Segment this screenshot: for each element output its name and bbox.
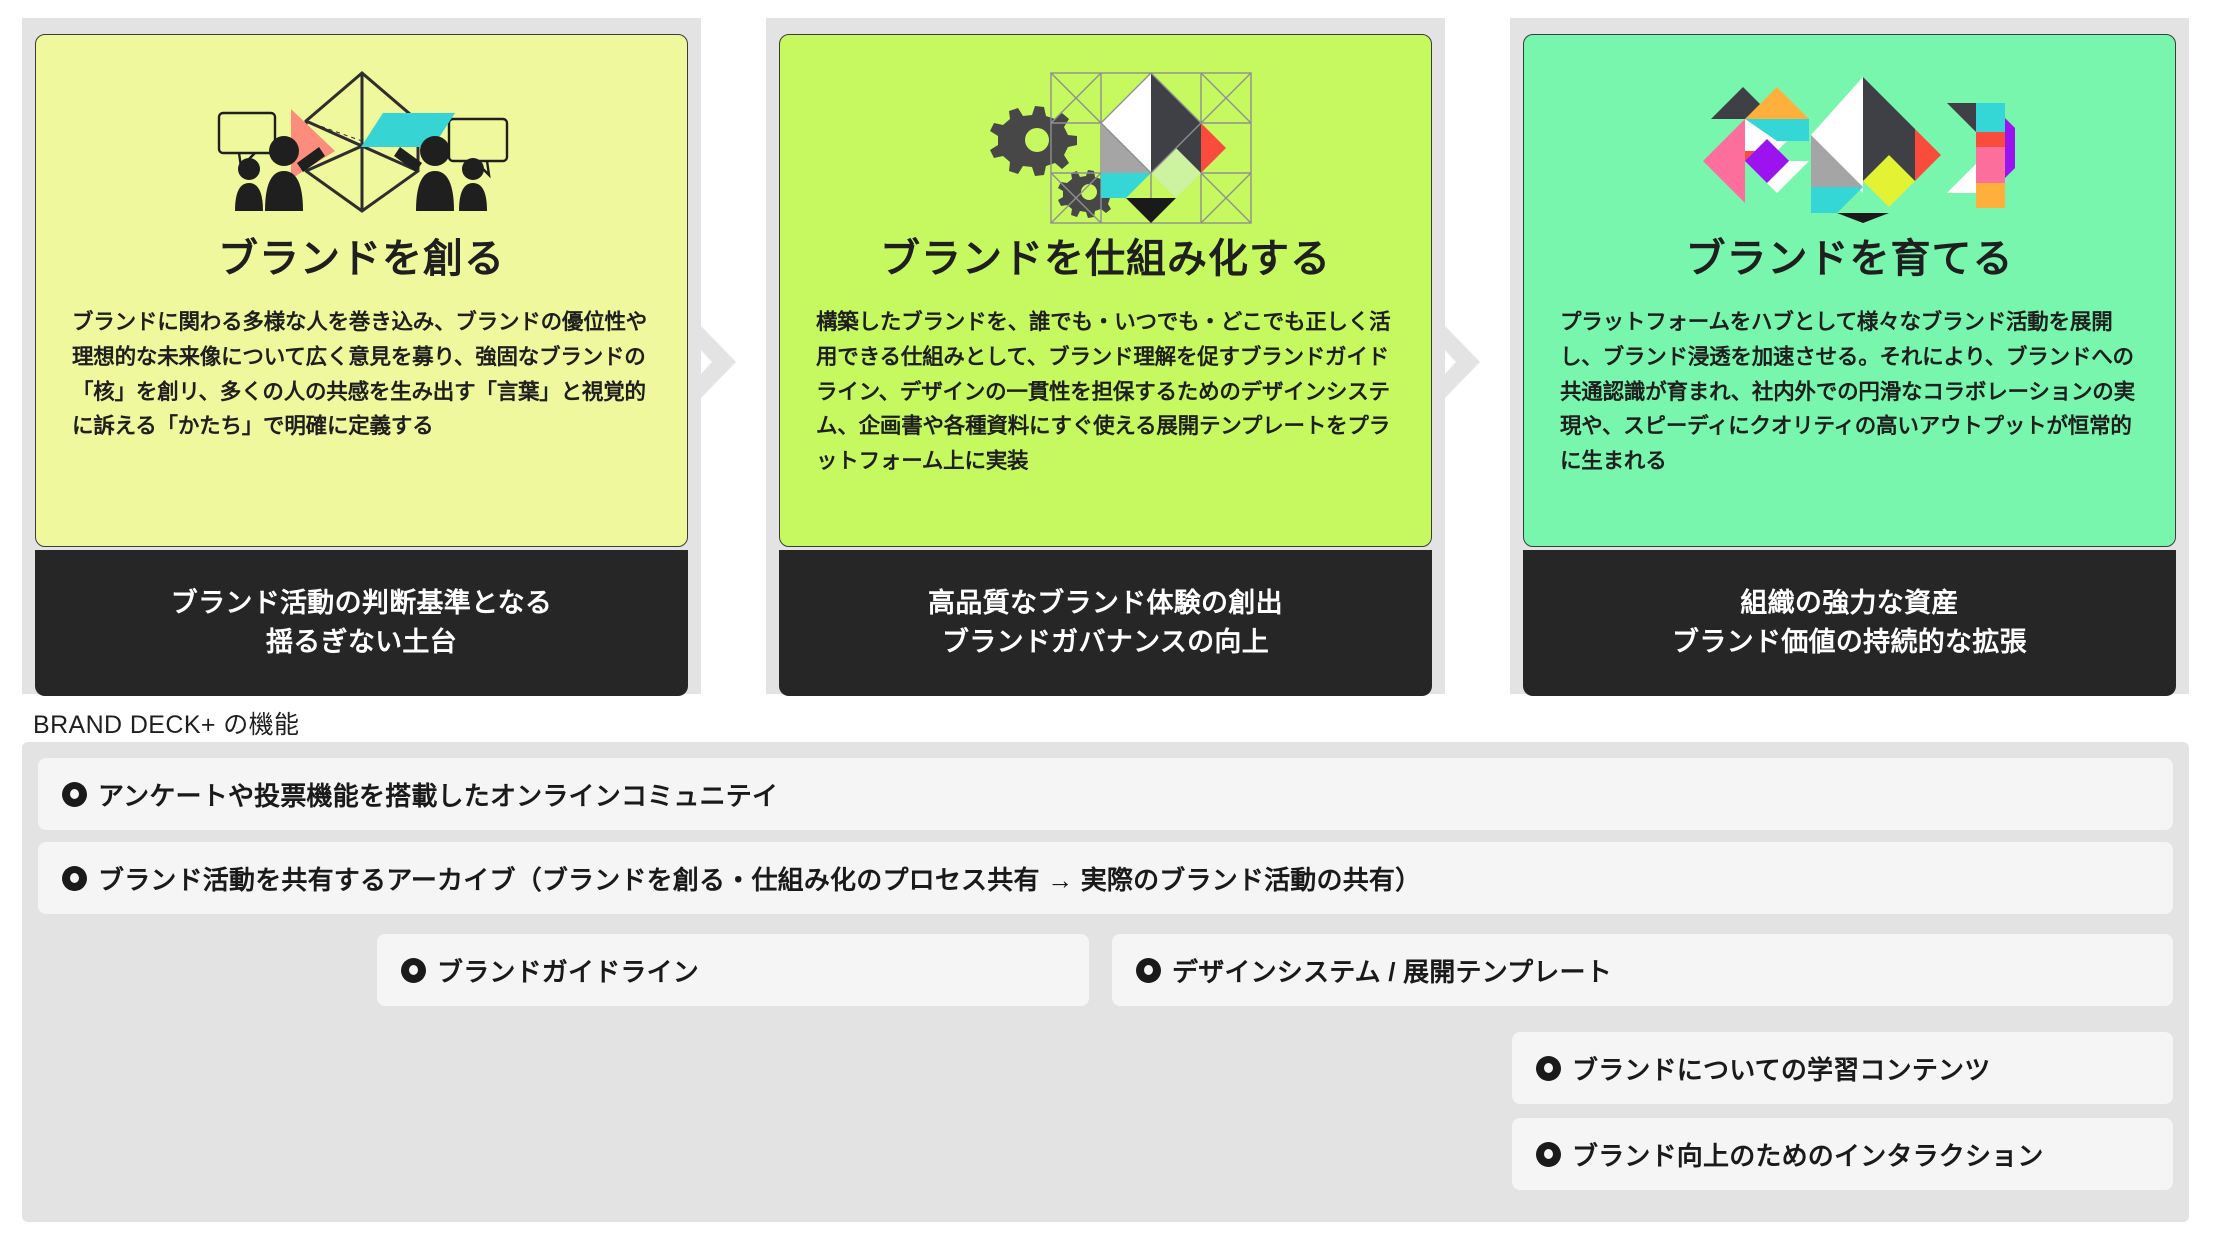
card-footer: 高品質なブランド体験の創出 ブランドガバナンスの向上 [779,550,1432,696]
process-card-create: ブランドを創る ブランドに関わる多様な人を巻き込み、ブランドの優位性や理想的な未… [22,18,701,694]
card-footer: ブランド活動の判断基準となる 揺るぎない土台 [35,550,688,696]
brand-deck-overview-page: ブランドを創る ブランドに関わる多様な人を巻き込み、ブランドの優位性や理想的な未… [0,0,2215,1240]
chevron-right-arrow-icon [700,325,736,399]
feature-item-learning-content[interactable]: ブランドについての学習コンテンツ [1512,1032,2173,1104]
process-cards-row: ブランドを創る ブランドに関わる多様な人を巻き込み、ブランドの優位性や理想的な未… [0,0,2215,700]
bullet-circle-icon [401,958,426,983]
card-body: ブランドを創る ブランドに関わる多様な人を巻き込み、ブランドの優位性や理想的な未… [35,34,688,547]
feature-item-interaction[interactable]: ブランド向上のためのインタラクション [1512,1118,2173,1190]
card-description: ブランドに関わる多様な人を巻き込み、ブランドの優位性や理想的な未来像について広く… [72,305,651,444]
card-body: ブランドを育てる プラットフォームをハブとして様々なブランド活動を展開し、ブラン… [1523,34,2176,547]
features-panel: アンケートや投票機能を搭載したオンラインコミュニテイ ブランド活動を共有するアー… [22,742,2189,1222]
people-discussing-brand-core-icon [36,35,687,243]
gears-and-tangram-grid-icon [780,35,1431,243]
card-title: ブランドを仕組み化する [780,239,1431,279]
card-footer-line-2: ブランド価値の持続的な拡張 [1672,628,2027,658]
card-title: ブランドを育てる [1524,239,2175,279]
feature-label: ブランドについての学習コンテンツ [1572,1050,1990,1087]
feature-item-archive[interactable]: ブランド活動を共有するアーカイブ（ブランドを創る・仕組み化のプロセス共有 → 実… [38,842,2173,914]
card-description: プラットフォームをハブとして様々なブランド活動を展開し、ブランド浸透を加速させる… [1560,305,2139,479]
card-description: 構築したブランドを、誰でも・いつでも・どこでも正しく活用できる仕組みとして、ブラ… [816,305,1395,479]
feature-item-brand-guideline[interactable]: ブランドガイドライン [377,934,1089,1006]
feature-item-online-community[interactable]: アンケートや投票機能を搭載したオンラインコミュニテイ [38,758,2173,830]
feature-item-design-system[interactable]: デザインシステム / 展開テンプレート [1112,934,2173,1006]
feature-label: デザインシステム / 展開テンプレート [1172,952,1612,989]
feature-label: ブランド向上のためのインタラクション [1572,1136,2044,1173]
card-footer-line-1: 組織の強力な資産 [1740,589,1958,619]
bullet-circle-icon [62,866,87,891]
card-footer: 組織の強力な資産 ブランド価値の持続的な拡張 [1523,550,2176,696]
features-section-label: BRAND DECK+ の機能 [33,705,299,741]
feature-label: アンケートや投票機能を搭載したオンラインコミュニテイ [98,776,778,813]
card-body: ブランドを仕組み化する 構築したブランドを、誰でも・いつでも・どこでも正しく活用… [779,34,1432,547]
bullet-circle-icon [1136,958,1161,983]
bullet-circle-icon [1536,1142,1561,1167]
card-title: ブランドを創る [36,239,687,279]
card-footer-line-1: 高品質なブランド体験の創出 [928,589,1283,619]
process-card-grow: ブランドを育てる プラットフォームをハブとして様々なブランド活動を展開し、ブラン… [1510,18,2189,694]
card-footer-line-1: ブランド活動の判断基準となる [171,589,552,619]
feature-label: ブランドガイドライン [437,952,699,989]
feature-label: ブランド活動を共有するアーカイブ（ブランドを創る・仕組み化のプロセス共有 → 実… [98,860,1421,897]
bullet-circle-icon [1536,1056,1561,1081]
card-footer-line-2: ブランドガバナンスの向上 [942,628,1269,658]
process-card-systemize: ブランドを仕組み化する 構築したブランドを、誰でも・いつでも・どこでも正しく活用… [766,18,1445,694]
tangram-expansion-icon [1524,35,2175,243]
bullet-circle-icon [62,782,87,807]
chevron-right-arrow-icon [1444,325,1480,399]
card-footer-line-2: 揺るぎない土台 [266,628,457,658]
